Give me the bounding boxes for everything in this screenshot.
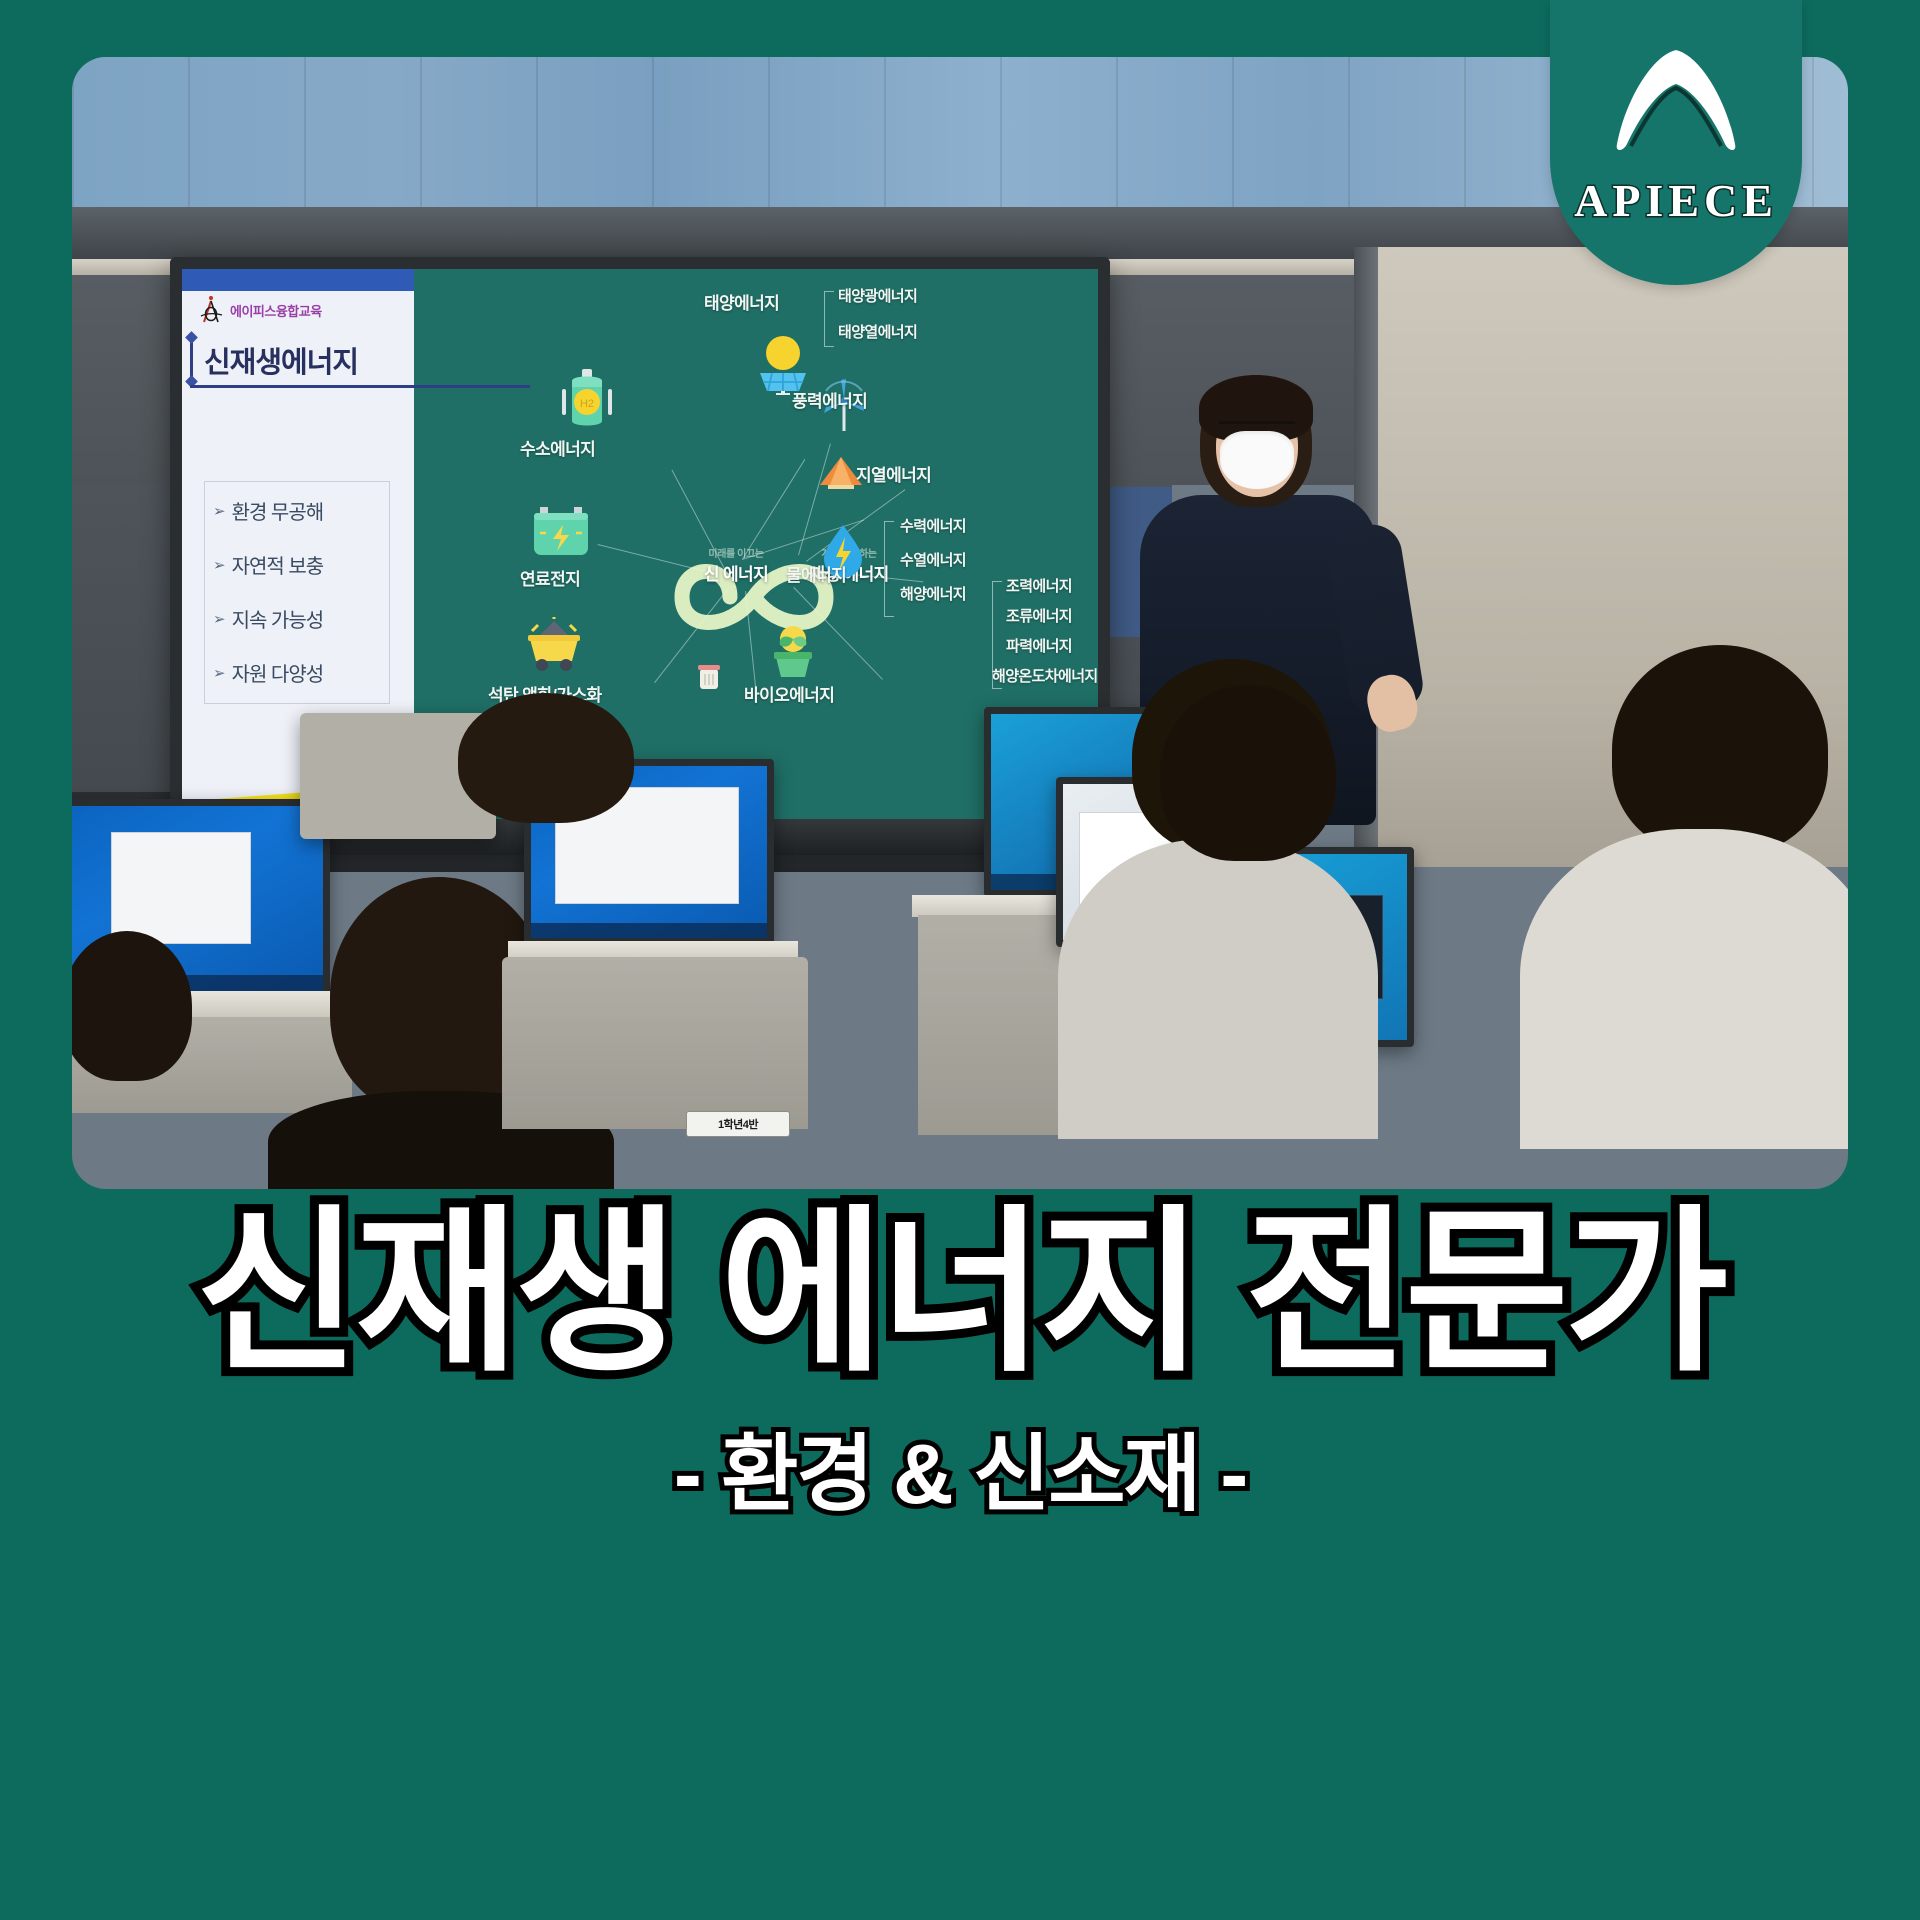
apiece-compass-icon (198, 295, 224, 325)
fuel-cell-icon (530, 505, 592, 564)
bullet-label: 자원 다양성 (232, 658, 324, 687)
poster-card: 에이피스융합교육 신재생에너지 ➢ 환경 무공해 ➢ (0, 0, 1920, 1920)
presenter-face-mask (1220, 431, 1294, 489)
solar-sub-bracket (824, 291, 834, 347)
wave-power-sublabel: 파력에너지 (1006, 635, 1072, 656)
slide-brand-label: 에이피스융합교육 (230, 301, 322, 320)
student-head (72, 931, 192, 1081)
list-item: ➢ 지속 가능성 (213, 604, 381, 633)
apiece-logo-badge: APIECE (1550, 0, 1802, 285)
slide-top-bar (182, 269, 414, 291)
svg-text:H2: H2 (580, 398, 594, 410)
list-item: ➢ 자원 다양성 (213, 658, 381, 687)
slide-bullet-list: ➢ 환경 무공해 ➢ 자연적 보충 ➢ 지속 가능성 ➢ (204, 481, 390, 704)
ocean-energy-sublabel: 해양에너지 (900, 583, 966, 604)
class-tag: 1학년4반 (686, 1111, 790, 1137)
coal-cart-icon (522, 617, 586, 678)
apiece-a-mark-icon (1601, 40, 1751, 166)
otec-sublabel: 해양온도차에너지 (992, 665, 1098, 686)
student-head (1160, 685, 1336, 861)
hydro-power-sublabel: 수력에너지 (900, 515, 966, 536)
desk-front-panel (502, 957, 808, 1129)
page-title: 신재생 에너지 전문가 (0, 1200, 1920, 1385)
bullet-label: 자연적 보충 (232, 550, 324, 579)
classroom-foreground: 1학년4반 (72, 719, 1848, 1189)
solar-thermal-sublabel: 태양열에너지 (838, 321, 917, 342)
solar-pv-sublabel: 태양광에너지 (838, 285, 917, 306)
new-energy-label: 신 에너지 (676, 560, 796, 585)
student-shoulders (1520, 829, 1848, 1149)
student-head (458, 693, 634, 823)
student-shoulders (1058, 839, 1378, 1139)
list-item: ➢ 자연적 보충 (213, 550, 381, 579)
geothermal-energy-label: 지열에너지 (856, 461, 931, 486)
water-sub-bracket (884, 521, 894, 617)
bullet-label: 환경 무공해 (232, 496, 324, 525)
hydrogen-energy-label: 수소에너지 (520, 435, 595, 460)
poster-caption: 신재생 에너지 전문가 - 환경 & 신소재 - (0, 1200, 1920, 1528)
water-energy-label: 물에너지 (786, 561, 846, 586)
waste-bin-icon (696, 661, 722, 696)
apiece-wordmark: APIECE (1574, 174, 1778, 227)
tidal-current-sublabel: 조류에너지 (1006, 605, 1072, 626)
chevron-right-icon: ➢ (213, 502, 225, 520)
slide-brand: 에이피스융합교육 (198, 295, 322, 325)
windows-taskbar (531, 923, 767, 938)
list-item: ➢ 환경 무공해 (213, 496, 381, 525)
solar-energy-label: 태양에너지 (704, 289, 779, 314)
chevron-right-icon: ➢ (213, 664, 225, 682)
tidal-power-sublabel: 조력에너지 (1006, 575, 1072, 596)
bio-energy-label: 바이오에너지 (744, 681, 834, 706)
student-head (1612, 645, 1828, 855)
hydrogen-tank-icon: H2 (556, 369, 618, 438)
bullet-label: 지속 가능성 (232, 604, 324, 633)
hydrothermal-sublabel: 수열에너지 (900, 549, 966, 570)
infinity-left-caption: 미래를 이끄는 신 에너지 (676, 545, 796, 585)
page-subtitle: - 환경 & 신소재 - (0, 1407, 1920, 1528)
fuel-cell-label: 연료전지 (520, 565, 580, 590)
chevron-right-icon: ➢ (213, 610, 225, 628)
new-energy-sublabel: 미래를 이끄는 (676, 545, 796, 560)
document-window (111, 832, 250, 944)
chevron-right-icon: ➢ (213, 556, 225, 574)
wind-energy-label: 풍력에너지 (792, 387, 867, 412)
plant-pot-icon (766, 621, 820, 684)
